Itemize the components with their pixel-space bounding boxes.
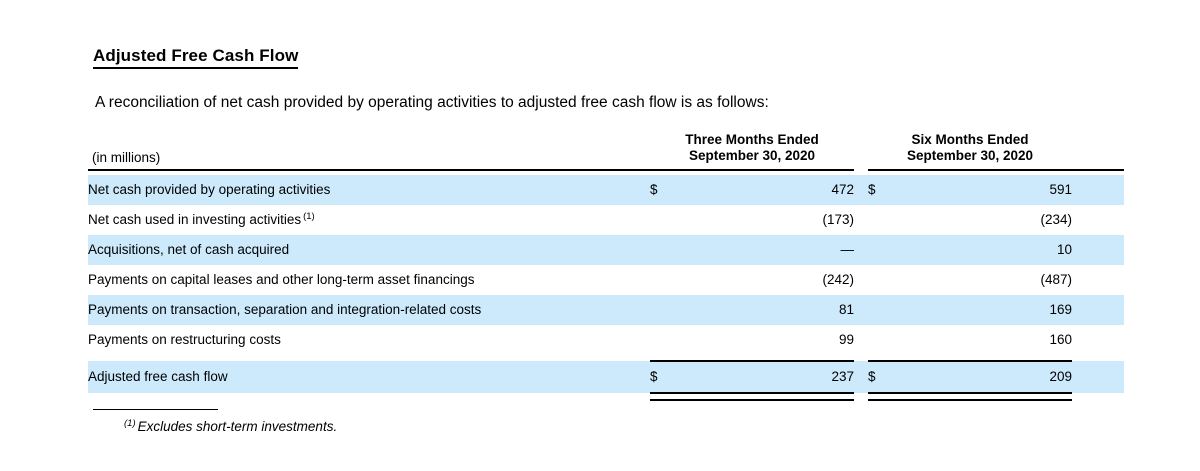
total-value-six-months: 209 <box>894 361 1072 393</box>
table-header-row: (in millions) Three Months Ended Septemb… <box>88 132 1124 170</box>
row-currency-three-months <box>650 295 676 325</box>
units-label: (in millions) <box>88 132 628 170</box>
column-header-three-months-line2: September 30, 2020 <box>650 148 854 164</box>
row-label: Payments on restructuring costs <box>88 325 628 355</box>
table-row: Net cash provided by operating activitie… <box>88 175 1124 205</box>
row-label: Net cash provided by operating activitie… <box>88 175 628 205</box>
row-label-text: Net cash used in investing activities <box>88 212 301 227</box>
row-value-six-months: 160 <box>894 325 1072 355</box>
table-body: Net cash provided by operating activitie… <box>88 175 1124 400</box>
table-row: Acquisitions, net of cash acquired — 10 <box>88 235 1124 265</box>
table-row: Net cash used in investing activities(1)… <box>88 205 1124 235</box>
footnote-marker: (1) <box>124 418 136 429</box>
footnote: (1)Excludes short-term investments. <box>124 419 337 434</box>
row-value-three-months: 99 <box>676 325 854 355</box>
table-row: Payments on restructuring costs 99 160 <box>88 325 1124 355</box>
row-value-six-months: (234) <box>894 205 1072 235</box>
row-value-six-months: 591 <box>894 175 1072 205</box>
page-title: Adjusted Free Cash Flow <box>93 46 298 69</box>
row-value-six-months: 169 <box>894 295 1072 325</box>
row-value-three-months: — <box>676 235 854 265</box>
column-header-three-months-line1: Three Months Ended <box>650 132 854 148</box>
total-value-three-months: 237 <box>676 361 854 393</box>
row-currency-three-months <box>650 235 676 265</box>
total-currency-three-months: $ <box>650 361 676 393</box>
row-currency-six-months: $ <box>868 175 894 205</box>
row-currency-six-months <box>868 265 894 295</box>
total-double-rule <box>88 393 1124 400</box>
row-currency-six-months <box>868 235 894 265</box>
row-currency-six-months <box>868 205 894 235</box>
row-label: Acquisitions, net of cash acquired <box>88 235 628 265</box>
total-currency-six-months: $ <box>868 361 894 393</box>
reconciliation-table: (in millions) Three Months Ended Septemb… <box>88 132 1124 401</box>
row-currency-three-months <box>650 205 676 235</box>
row-label: Net cash used in investing activities(1) <box>88 205 628 235</box>
table-header: (in millions) Three Months Ended Septemb… <box>88 132 1124 175</box>
row-currency-six-months <box>868 295 894 325</box>
row-currency-three-months: $ <box>650 175 676 205</box>
row-currency-three-months <box>650 265 676 295</box>
table-row: Payments on capital leases and other lon… <box>88 265 1124 295</box>
footnote-marker: (1) <box>303 211 315 222</box>
row-label: Payments on capital leases and other lon… <box>88 265 628 295</box>
column-header-three-months: Three Months Ended September 30, 2020 <box>650 132 854 170</box>
row-label: Payments on transaction, separation and … <box>88 295 628 325</box>
financial-statement-page: Adjusted Free Cash Flow A reconciliation… <box>0 0 1200 471</box>
row-value-three-months: 81 <box>676 295 854 325</box>
column-header-six-months: Six Months Ended September 30, 2020 <box>868 132 1072 170</box>
footnote-divider <box>93 409 218 410</box>
footnote-text: Excludes short-term investments. <box>138 419 338 434</box>
row-value-three-months: (173) <box>676 205 854 235</box>
row-value-six-months: 10 <box>894 235 1072 265</box>
total-row: Adjusted free cash flow $ 237 $ 209 <box>88 361 1124 393</box>
column-header-six-months-line2: September 30, 2020 <box>868 148 1072 164</box>
row-value-three-months: 472 <box>676 175 854 205</box>
row-value-six-months: (487) <box>894 265 1072 295</box>
table-row: Payments on transaction, separation and … <box>88 295 1124 325</box>
row-currency-three-months <box>650 325 676 355</box>
row-value-three-months: (242) <box>676 265 854 295</box>
reconciliation-table-container: (in millions) Three Months Ended Septemb… <box>88 132 1124 401</box>
intro-paragraph: A reconciliation of net cash provided by… <box>95 93 769 113</box>
row-currency-six-months <box>868 325 894 355</box>
column-header-six-months-line1: Six Months Ended <box>868 132 1072 148</box>
total-row-label: Adjusted free cash flow <box>88 361 628 393</box>
